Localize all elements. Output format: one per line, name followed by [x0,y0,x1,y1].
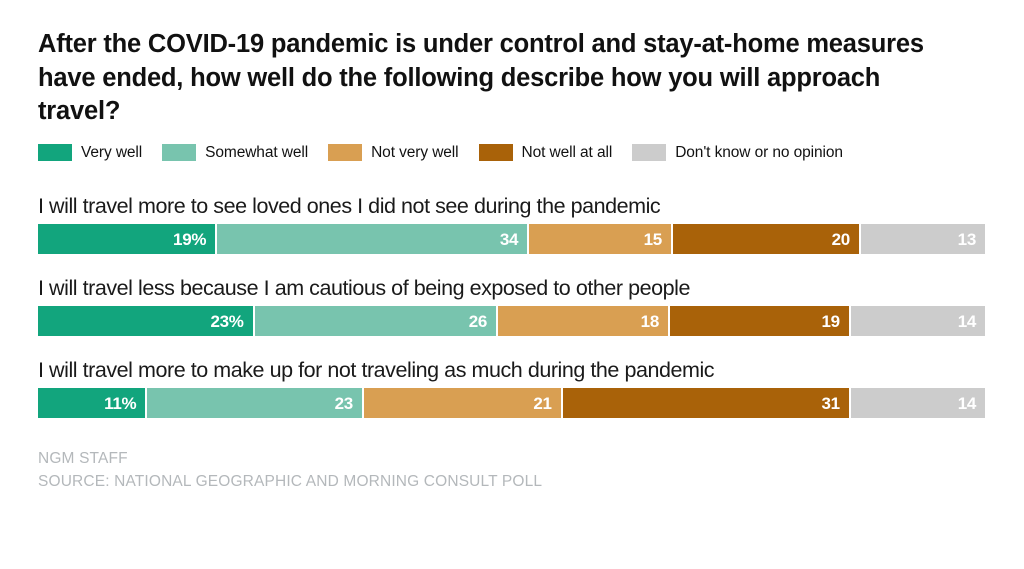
bar-segment-value: 21 [533,395,551,412]
bar-segment-value: 13 [958,231,976,248]
bar-segment[interactable]: 13 [861,224,985,254]
legend-swatch-icon [328,144,362,161]
bar-row: I will travel more to make up for not tr… [38,358,986,418]
bar-segment[interactable]: 14 [851,306,985,336]
bar-row-label: I will travel more to make up for not tr… [38,358,986,382]
bar-segment[interactable]: 19% [38,224,217,254]
bar-segment[interactable]: 19 [670,306,851,336]
bar-segment-value: 19 [822,313,840,330]
legend-swatch-icon [38,144,72,161]
bar-segment[interactable]: 11% [38,388,147,418]
legend-item[interactable]: Very well [38,144,142,161]
bar-segment-value: 14 [958,395,976,412]
legend-swatch-icon [479,144,513,161]
bar-row: I will travel less because I am cautious… [38,276,986,336]
bar-segment-value: 31 [822,395,840,412]
bar-segment-value: 11% [104,395,136,412]
bar-segment[interactable]: 31 [563,388,851,418]
source-line: SOURCE: NATIONAL GEOGRAPHIC AND MORNING … [38,471,986,493]
bar-segment-value: 20 [832,231,850,248]
bar-segment-value: 34 [500,231,518,248]
bar-segment-value: 23 [335,395,353,412]
legend-item-label: Don't know or no opinion [675,145,843,161]
legend-swatch-icon [162,144,196,161]
legend-item[interactable]: Not well at all [479,144,613,161]
stacked-bar: 23%26181914 [38,306,985,336]
legend-item[interactable]: Not very well [328,144,458,161]
chart-footer: NGM STAFF SOURCE: NATIONAL GEOGRAPHIC AN… [38,448,986,493]
bar-segment-value: 14 [958,313,976,330]
stacked-bar: 19%34152013 [38,224,985,254]
bar-segment-value: 15 [644,231,662,248]
bar-segment[interactable]: 14 [851,388,985,418]
chart-page: After the COVID-19 pandemic is under con… [0,0,1024,569]
page-title: After the COVID-19 pandemic is under con… [38,0,968,129]
bar-row-label: I will travel less because I am cautious… [38,276,986,300]
chart-legend: Very wellSomewhat wellNot very wellNot w… [38,143,986,163]
stacked-bar: 11%23213114 [38,388,985,418]
bar-row-label: I will travel more to see loved ones I d… [38,194,986,218]
credit-line: NGM STAFF [38,448,986,470]
bar-segment-value: 26 [469,313,487,330]
bar-segment[interactable]: 34 [217,224,529,254]
bar-row: I will travel more to see loved ones I d… [38,194,986,254]
bar-segment[interactable]: 21 [364,388,563,418]
legend-swatch-icon [632,144,666,161]
legend-item-label: Not very well [371,145,458,161]
legend-item-label: Very well [81,145,142,161]
legend-item[interactable]: Don't know or no opinion [632,144,843,161]
legend-item-label: Not well at all [522,145,613,161]
legend-item[interactable]: Somewhat well [162,144,308,161]
bar-segment[interactable]: 23% [38,306,255,336]
bar-segment-value: 19% [173,231,206,248]
bar-segment[interactable]: 26 [255,306,498,336]
legend-item-label: Somewhat well [205,145,308,161]
bar-segment-value: 23% [211,313,244,330]
bar-segment[interactable]: 18 [498,306,670,336]
bar-segment[interactable]: 20 [673,224,861,254]
bar-segment[interactable]: 15 [529,224,673,254]
bar-segment-value: 18 [641,313,659,330]
bar-rows: I will travel more to see loved ones I d… [38,194,986,418]
bar-segment[interactable]: 23 [147,388,364,418]
